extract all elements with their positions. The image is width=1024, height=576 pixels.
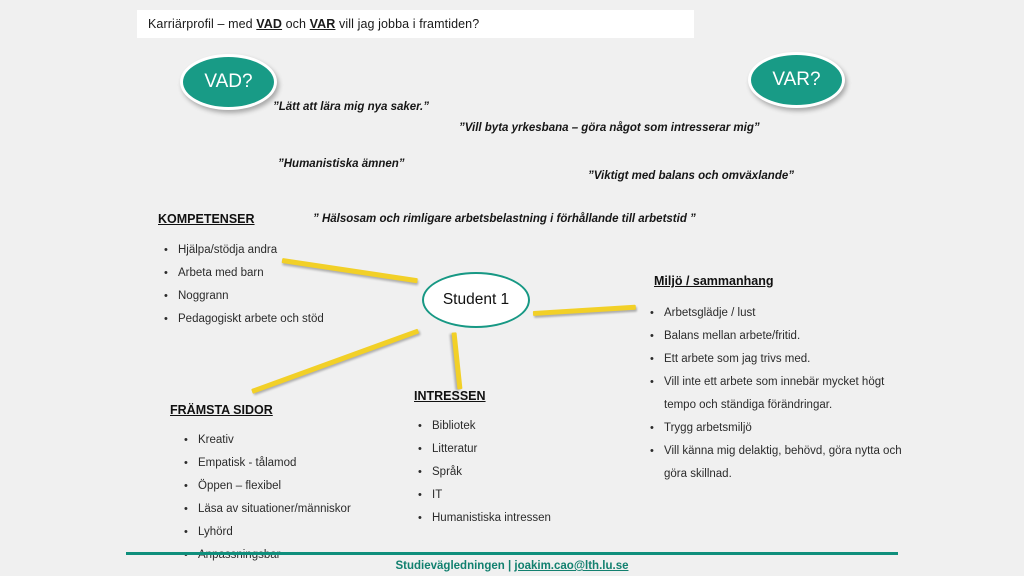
bubble-vad-label: VAD? (204, 71, 252, 93)
slide-canvas: Karriärprofil – med VAD och VAR vill jag… (0, 0, 1024, 576)
quote-lätt-att-lära: ”Lätt att lära mig nya saker.” (273, 101, 429, 113)
list-item: Arbetsglädje / lust (646, 302, 914, 325)
list-item: Kreativ (182, 429, 351, 452)
title-part-suffix: vill jag jobba i framtiden? (335, 17, 479, 31)
title-part-mid: och (282, 17, 310, 31)
list-item: Vill inte ett arbete som innebär mycket … (646, 371, 914, 417)
list-item: Empatisk - tålamod (182, 452, 351, 475)
list-item: Hjälpa/stödja andra (162, 239, 324, 262)
title-part-prefix: Karriärprofil – med (148, 17, 256, 31)
bubble-var-label: VAR? (772, 69, 820, 91)
section-miljo-heading: Miljö / sammanhang (654, 274, 914, 288)
list-item: Litteratur (416, 438, 551, 461)
section-framsta-sidor: FRÄMSTA SIDOR Kreativ Empatisk - tålamod… (170, 403, 351, 567)
section-kompetenser-heading: KOMPETENSER (158, 212, 324, 226)
section-kompetenser: KOMPETENSER Hjälpa/stödja andra Arbeta m… (158, 212, 324, 331)
list-item: Balans mellan arbete/fritid. (646, 325, 914, 348)
page-title: Karriärprofil – med VAD och VAR vill jag… (137, 17, 479, 31)
quote-halsosam-arbetsbelastning: ” Hälsosam och rimligare arbetsbelastnin… (313, 213, 696, 225)
list-item: Humanistiska intressen (416, 507, 551, 530)
quote-vill-byta-yrkesbana: ”Vill byta yrkesbana – göra något som in… (459, 122, 760, 134)
footer: Studievägledningen | joakim.cao@lth.lu.s… (0, 560, 1024, 572)
section-miljo-sammanhang: Miljö / sammanhang Arbetsglädje / lust B… (654, 274, 914, 486)
quote-viktigt-med-balans: ”Viktigt med balans och omväxlande” (588, 170, 794, 182)
section-framsta-sidor-list: Kreativ Empatisk - tålamod Öppen – flexi… (182, 429, 351, 567)
footer-org-label: Studievägledningen | (396, 560, 515, 572)
footer-email-link[interactable]: joakim.cao@lth.lu.se (514, 560, 628, 572)
title-keyword-var: VAR (310, 17, 336, 31)
slide-title-box: Karriärprofil – med VAD och VAR vill jag… (137, 10, 694, 38)
section-intressen: INTRESSEN Bibliotek Litteratur Språk IT … (414, 389, 551, 530)
connector-line-framsta-sidor (251, 329, 419, 394)
footer-divider (126, 552, 898, 555)
section-kompetenser-list: Hjälpa/stödja andra Arbeta med barn Nogg… (162, 239, 324, 331)
list-item: IT (416, 484, 551, 507)
quote-humanistiska-amnen: ”Humanistiska ämnen” (278, 158, 405, 170)
connector-line-intressen (452, 332, 463, 389)
section-intressen-heading: INTRESSEN (414, 389, 551, 403)
bubble-vad: VAD? (180, 54, 277, 110)
center-node-student: Student 1 (422, 272, 530, 328)
list-item: Bibliotek (416, 415, 551, 438)
list-item: Trygg arbetsmiljö (646, 417, 914, 440)
bubble-var: VAR? (748, 52, 845, 108)
list-item: Noggrann (162, 285, 324, 308)
center-node-label: Student 1 (443, 291, 509, 309)
section-framsta-sidor-heading: FRÄMSTA SIDOR (170, 403, 351, 417)
list-item: Lyhörd (182, 521, 351, 544)
list-item: Ett arbete som jag trivs med. (646, 348, 914, 371)
list-item: Öppen – flexibel (182, 475, 351, 498)
list-item: Läsa av situationer/människor (182, 498, 351, 521)
list-item: Pedagogiskt arbete och stöd (162, 308, 324, 331)
connector-line-miljo (533, 305, 636, 316)
title-keyword-vad: VAD (256, 17, 282, 31)
section-miljo-list: Arbetsglädje / lust Balans mellan arbete… (646, 302, 914, 486)
list-item: Vill känna mig delaktig, behövd, göra ny… (646, 440, 914, 486)
list-item: Språk (416, 461, 551, 484)
section-intressen-list: Bibliotek Litteratur Språk IT Humanistis… (416, 415, 551, 530)
